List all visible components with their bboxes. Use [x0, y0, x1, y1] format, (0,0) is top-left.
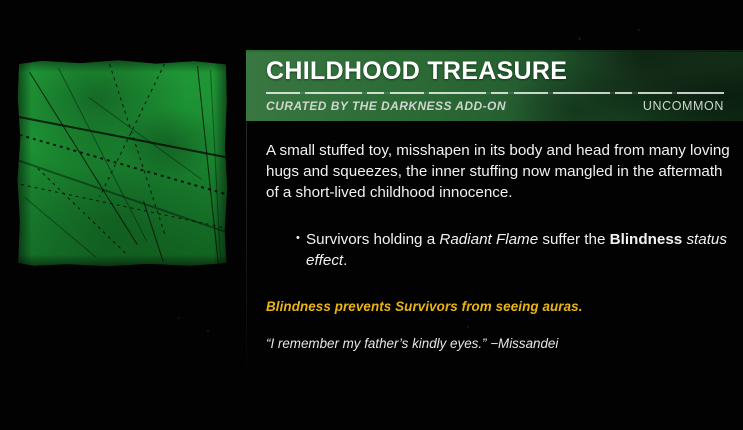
- rarity-badge: UNCOMMON: [643, 99, 724, 113]
- header-divider: [266, 92, 724, 94]
- effect-status-name: Blindness: [610, 231, 683, 248]
- banner-top-edge: [246, 50, 743, 52]
- effect-middle: suffer the: [538, 231, 609, 248]
- addon-description: A small stuffed toy, misshapen in its bo…: [266, 140, 734, 203]
- page-title: CHILDHOOD TREASURE: [266, 59, 567, 84]
- effect-prefix: Survivors holding a: [306, 231, 439, 248]
- curated-by-label: CURATED BY THE DARKNESS ADD-ON: [266, 99, 506, 113]
- addon-effects-list: Survivors holding a Radiant Flame suffer…: [266, 229, 734, 271]
- status-effect-note: Blindness prevents Survivors from seeing…: [266, 299, 734, 314]
- addon-detail-card: CHILDHOOD TREASURE CURATED BY THE DARKNE…: [246, 50, 743, 386]
- card-header-banner: CHILDHOOD TREASURE CURATED BY THE DARKNE…: [246, 50, 743, 121]
- card-body: A small stuffed toy, misshapen in its bo…: [266, 140, 734, 351]
- addon-card-screen: CHILDHOOD TREASURE CURATED BY THE DARKNE…: [0, 0, 743, 430]
- addon-icon-surface: [17, 60, 228, 267]
- effect-item-name: Radiant Flame: [439, 231, 538, 248]
- flavour-text: “I remember my father’s kindly eyes.” −M…: [266, 336, 734, 351]
- header-subrow: CURATED BY THE DARKNESS ADD-ON UNCOMMON: [266, 99, 724, 113]
- effect-item: Survivors holding a Radiant Flame suffer…: [296, 229, 734, 271]
- card-left-divider: [246, 123, 247, 386]
- childhood-treasure-addon-icon[interactable]: [17, 60, 228, 267]
- effect-terminator: .: [343, 252, 347, 269]
